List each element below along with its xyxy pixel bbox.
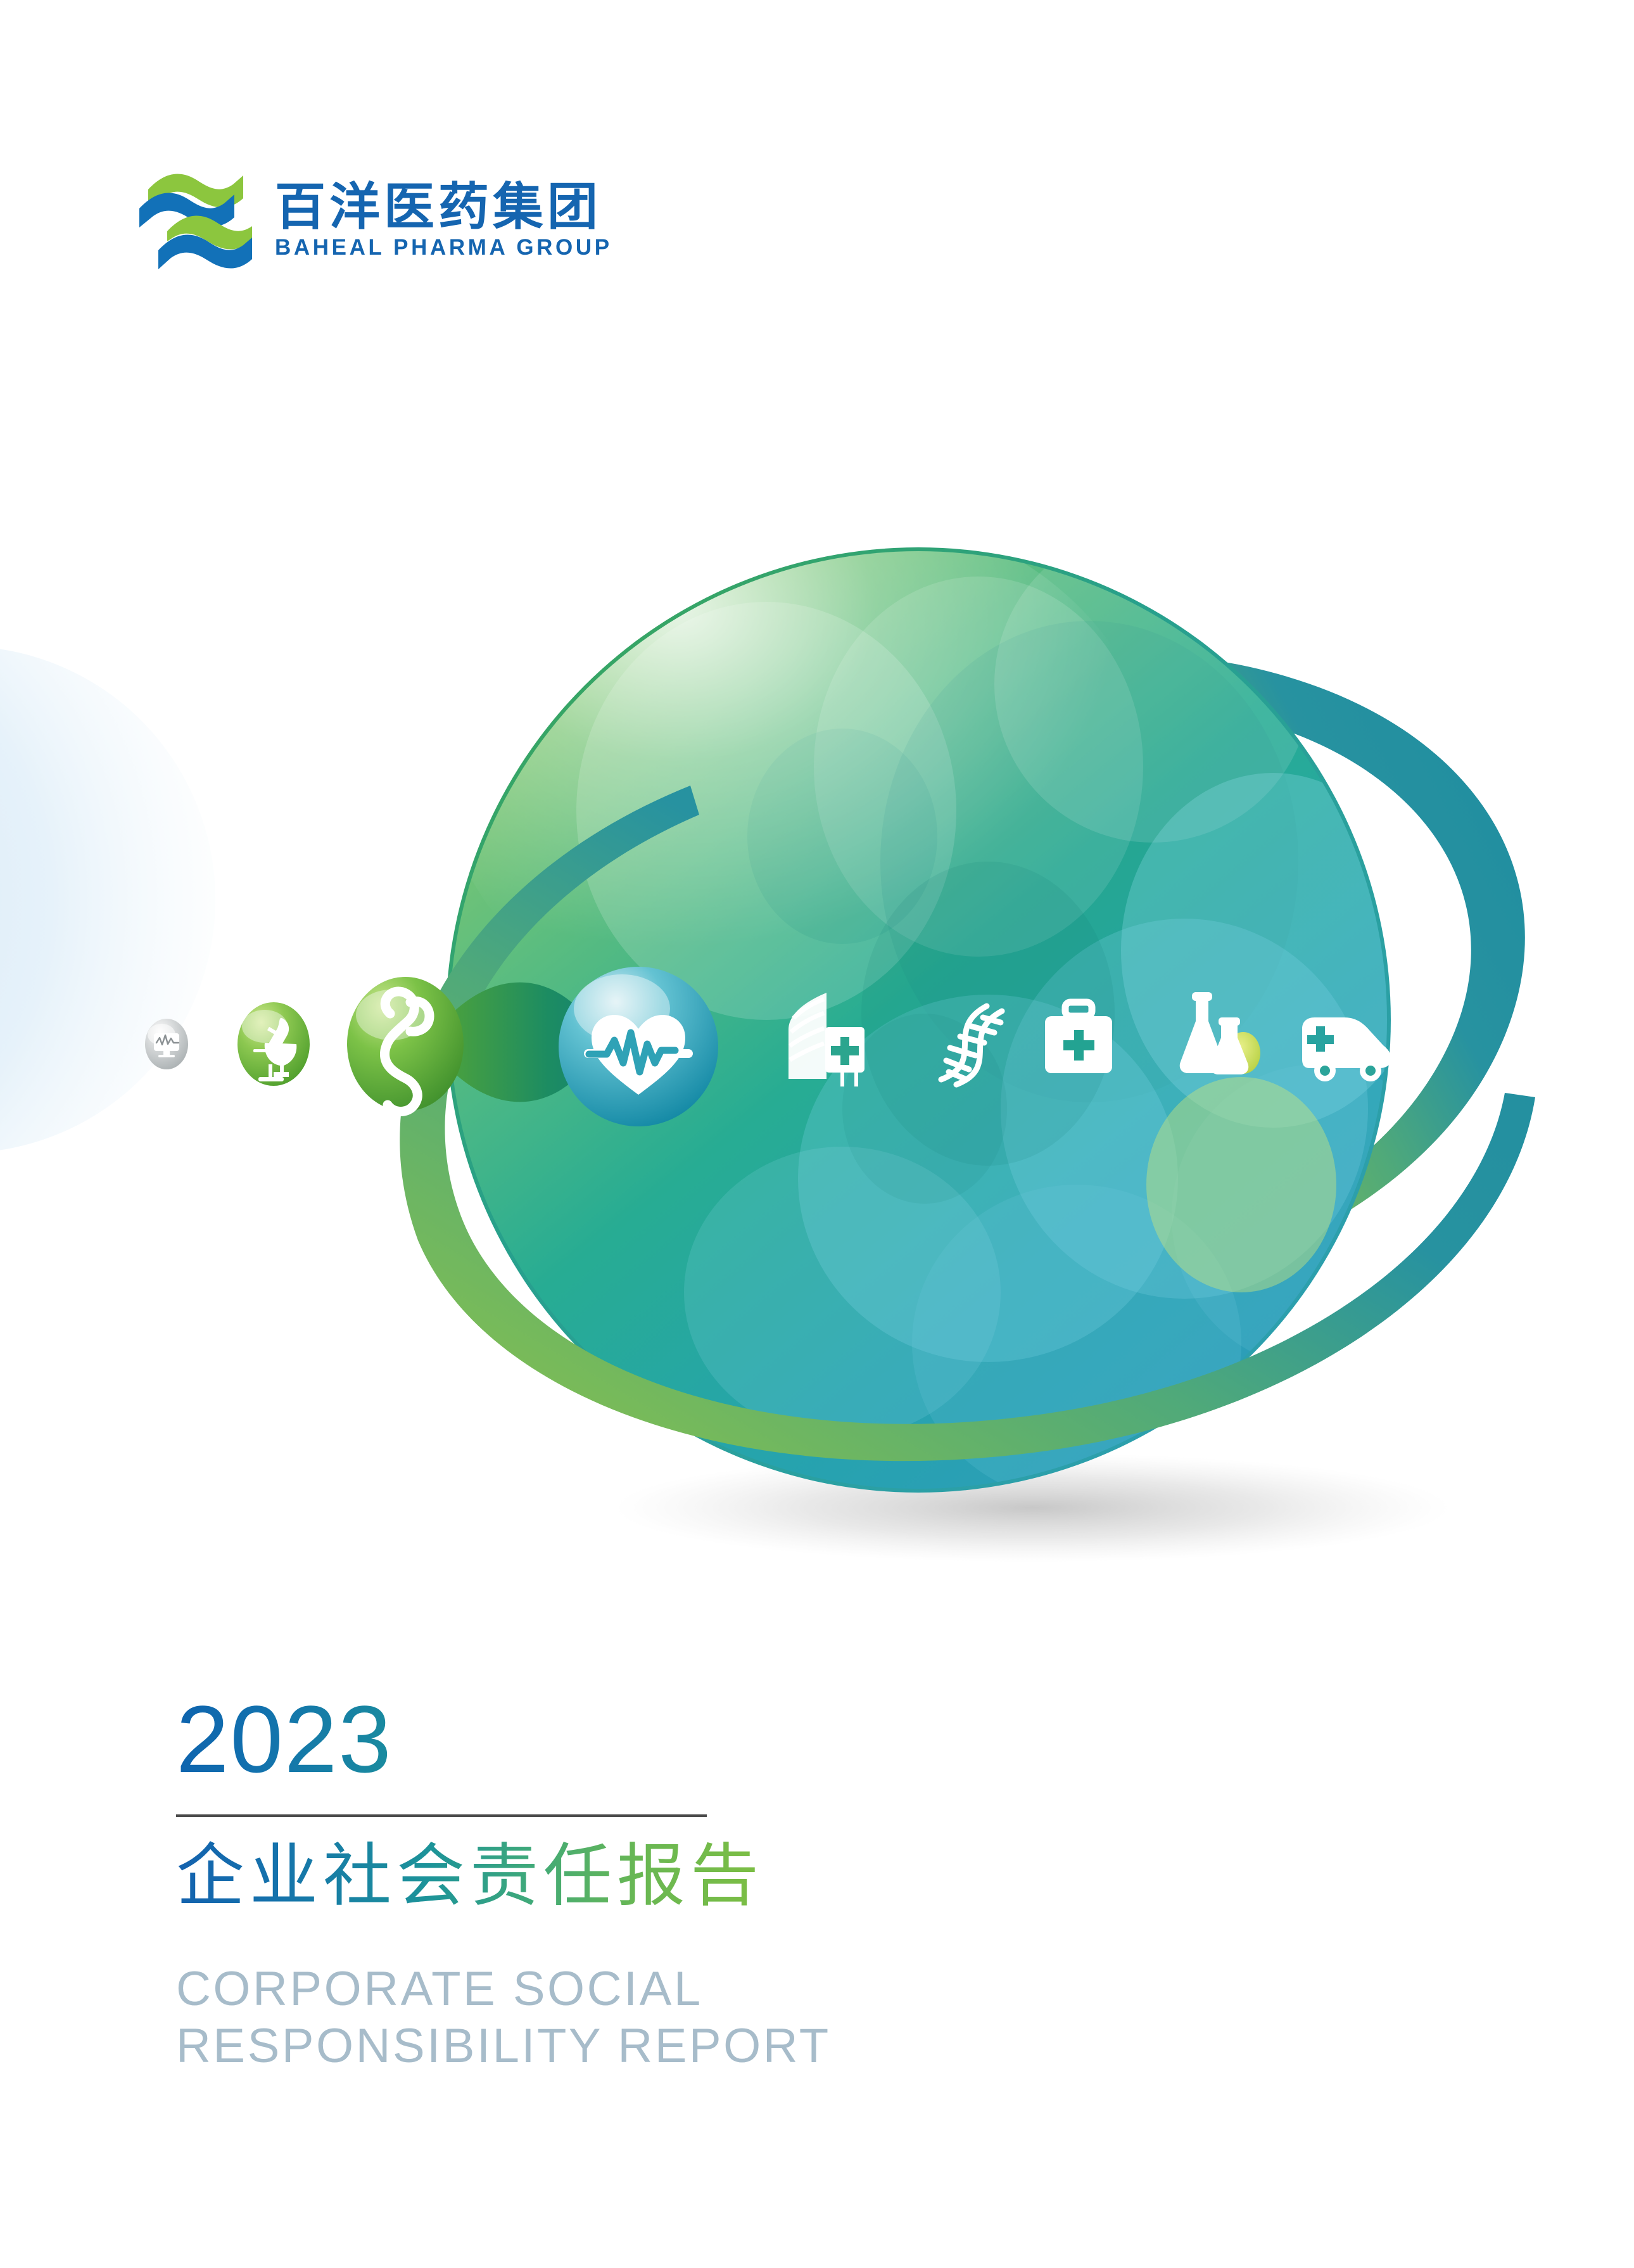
left-halo-semicircle bbox=[0, 646, 215, 1153]
report-year: 2023 bbox=[176, 1691, 393, 1787]
report-title-en-line1: CORPORATE SOCIAL bbox=[176, 1961, 1379, 2018]
logo-company-cn: 百洋医药集团 bbox=[275, 182, 612, 233]
brand-logo: 百洋医药集团 BAHEAL PHARMA GROUP bbox=[132, 162, 612, 279]
report-title-en-line2: RESPONSIBILITY REPORT bbox=[176, 2018, 1379, 2075]
baheal-wave-mark-icon bbox=[132, 162, 253, 279]
cover-page: 百洋医药集团 BAHEAL PHARMA GROUP bbox=[0, 0, 1634, 2268]
logo-company-en: BAHEAL PHARMA GROUP bbox=[275, 236, 612, 258]
globe-graphic-svg bbox=[0, 469, 1634, 1596]
chain-bubble-monitor bbox=[145, 1019, 188, 1069]
chain-bubble-microscope bbox=[237, 1002, 310, 1086]
chain-bubble-caduceus bbox=[347, 977, 464, 1112]
cover-title-block: 2023 企业社会责任报告 CORPORATE SOCIAL RESPONSIB… bbox=[176, 1691, 1379, 2074]
medical-globe-illustration bbox=[0, 469, 1634, 1596]
report-title-cn: 企业社会责任报告 bbox=[176, 1838, 764, 1915]
report-title-en: CORPORATE SOCIAL RESPONSIBILITY REPORT bbox=[176, 1961, 1379, 2074]
chain-bubble-heart bbox=[559, 967, 718, 1126]
title-divider bbox=[176, 1814, 707, 1817]
